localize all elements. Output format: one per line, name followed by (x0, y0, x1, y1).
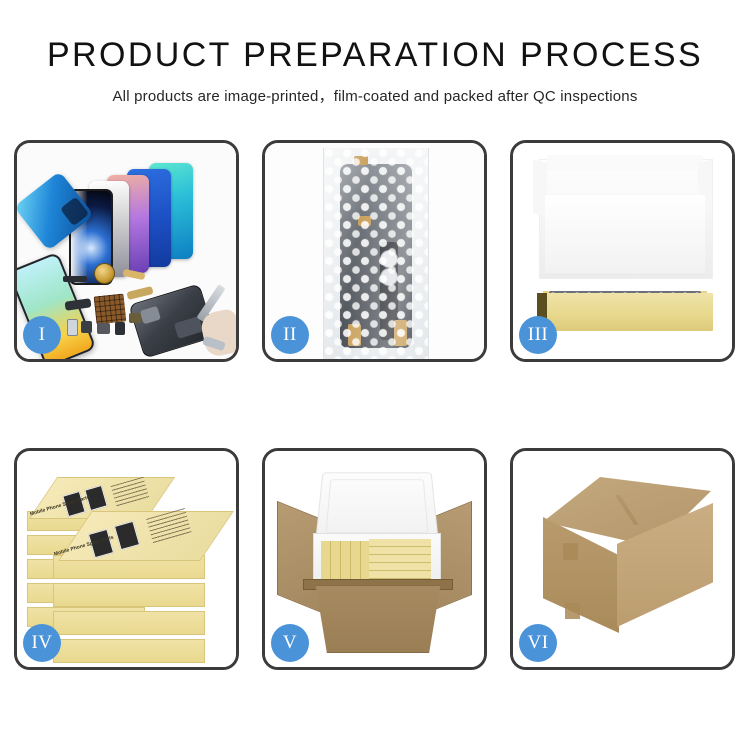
step-badge-4: IV (23, 624, 61, 662)
yellow-boxes-row-2 (369, 539, 431, 581)
process-step-1: I (14, 140, 239, 362)
process-step-grid: I (14, 140, 736, 670)
carton-front-panel (307, 585, 449, 653)
page-root: PRODUCT PREPARATION PROCESS All products… (0, 0, 750, 750)
process-step-4: Mobile Phone Spare Parts Mobile Phone Sp… (14, 448, 239, 670)
component-4-icon (67, 319, 78, 336)
step-badge-1: I (23, 316, 61, 354)
bubble-bag (323, 148, 429, 359)
stack-b-box-3 (53, 611, 205, 635)
page-subtitle: All products are image-printed，film-coat… (0, 85, 750, 106)
process-step-6: VI (510, 448, 735, 670)
process-step-3: III (510, 140, 735, 362)
process-step-2: II (262, 140, 487, 362)
vibration-motor-icon (94, 263, 115, 284)
foam-lid (315, 472, 439, 541)
process-step-5: V (262, 448, 487, 670)
step-badge-6: VI (519, 624, 557, 662)
stack-b-box-4 (53, 639, 205, 663)
component-3-icon (115, 322, 125, 335)
component-2-icon (97, 323, 110, 334)
page-header: PRODUCT PREPARATION PROCESS All products… (0, 0, 750, 106)
screw-grid-icon (94, 294, 127, 325)
component-1-icon (81, 321, 92, 333)
step-badge-5: V (271, 624, 309, 662)
foam-sheet (545, 195, 705, 273)
stack-b-box-2 (53, 583, 205, 607)
speaker-bar-icon (63, 276, 87, 282)
page-title: PRODUCT PREPARATION PROCESS (0, 38, 750, 72)
step-badge-3: III (519, 316, 557, 354)
component-5-icon (129, 313, 141, 323)
carton-tape-lower (565, 603, 580, 619)
plastic-sheen (324, 148, 428, 359)
carton-tape-upper (563, 543, 578, 560)
step-badge-2: II (271, 316, 309, 354)
mailer-body (537, 293, 713, 331)
mailer-lid-edge (547, 155, 703, 171)
